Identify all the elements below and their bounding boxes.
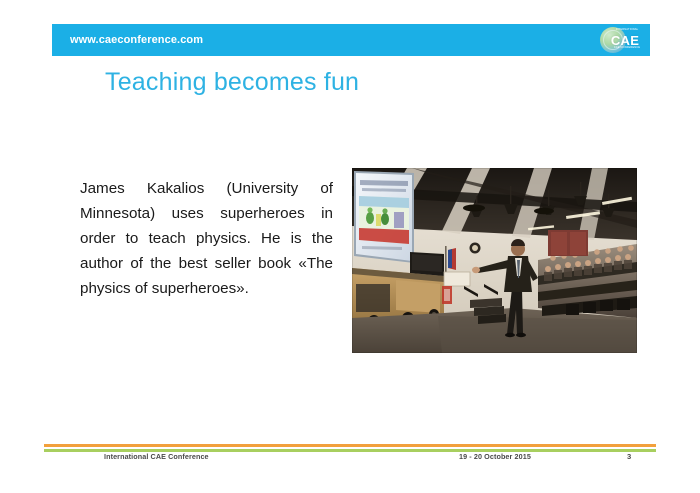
lecture-hall-photo: [352, 168, 637, 353]
photo-illustration: [352, 168, 637, 353]
body-paragraph: James Kakalios (University of Minnesota)…: [80, 176, 333, 301]
footer-conference-name: International CAE Conference: [104, 452, 209, 461]
footer-page-number: 3: [627, 452, 631, 461]
footer-rule-orange: [44, 444, 656, 447]
logo-tagline-top: INTERNATIONAL: [612, 29, 642, 32]
slide-canvas: www.caeconference.com INTERNATIONAL CAE …: [0, 0, 700, 493]
header-bar: www.caeconference.com INTERNATIONAL CAE …: [52, 24, 650, 56]
footer-date: 19 - 20 October 2015: [459, 452, 531, 461]
header-url: www.caeconference.com: [70, 34, 203, 46]
logo-tagline-bottom: CAE CONFERENCE: [612, 47, 642, 50]
footer: International CAE Conference 19 - 20 Oct…: [44, 452, 656, 466]
cae-logo: INTERNATIONAL CAE CAE CONFERENCE: [598, 25, 642, 55]
page-title: Teaching becomes fun: [105, 68, 359, 97]
